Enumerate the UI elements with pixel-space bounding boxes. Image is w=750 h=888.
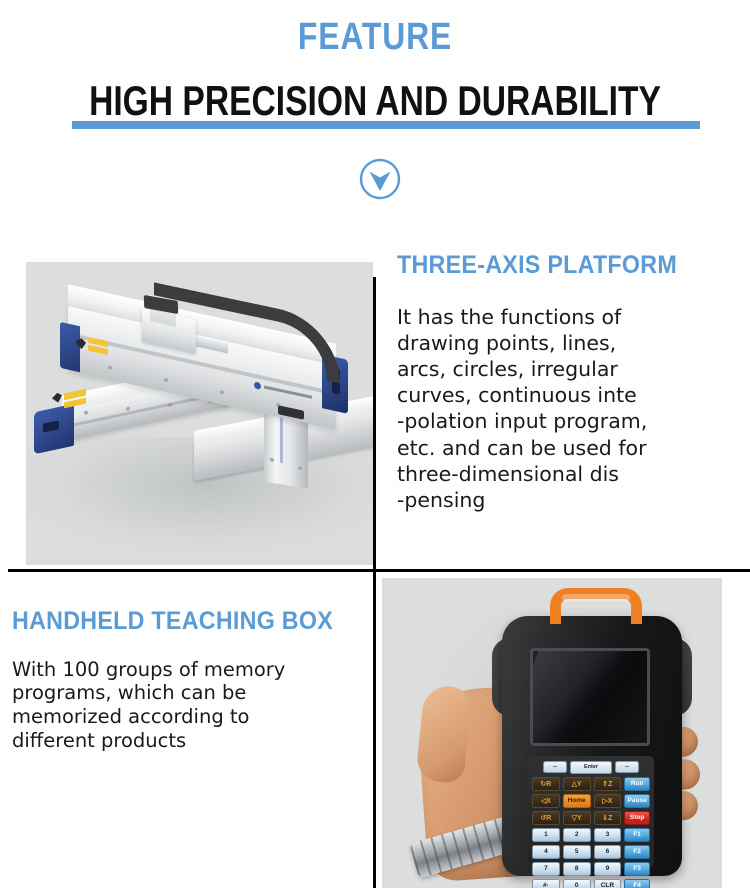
- pendant-screen-glare: [530, 648, 628, 746]
- key-minus-right[interactable]: –: [615, 761, 639, 773]
- chevron-down-circle-icon: [358, 157, 402, 201]
- key-home[interactable]: Home: [563, 794, 591, 808]
- key-f2[interactable]: F2: [624, 845, 650, 859]
- key-z-down[interactable]: ⇓Z: [594, 811, 622, 825]
- page-title: HIGH PRECISION AND DURABILITY: [75, 80, 675, 122]
- key-y-down[interactable]: ▽Y: [563, 811, 591, 825]
- key-1[interactable]: 1: [532, 828, 560, 842]
- pendant-handle-gloss: [562, 594, 630, 601]
- keypad-row-7: #· 0 CLR F4: [532, 879, 650, 888]
- keypad-row-3: ↺R ▽Y ⇓Z Stop: [532, 811, 650, 825]
- key-x-left[interactable]: ◁X: [532, 794, 560, 808]
- key-3[interactable]: 3: [594, 828, 622, 842]
- key-x-right[interactable]: ▷X: [594, 794, 622, 808]
- three-axis-platform-section: THREE-AXIS PLATFORM It has the functions…: [397, 252, 737, 513]
- key-8[interactable]: 8: [563, 862, 591, 876]
- gantry-warning-icon-front: [52, 392, 63, 405]
- handheld-teaching-box-section: HANDHELD TEACHING BOX With 100 groups of…: [12, 608, 372, 753]
- keypad-row-6: 7 8 9 F3: [532, 862, 650, 876]
- pendant-lcd-screen: [530, 648, 650, 746]
- key-rotate-cw[interactable]: ↻R: [532, 777, 560, 791]
- keypad-row-top: – Enter –: [532, 761, 650, 774]
- key-4[interactable]: 4: [532, 845, 560, 859]
- section-title-three-axis-platform: THREE-AXIS PLATFORM: [397, 252, 713, 280]
- feature-header: FEATURE HIGH PRECISION AND DURABILITY: [0, 0, 750, 232]
- three-axis-gantry-platform-photo: [26, 262, 373, 565]
- keypad-row-1: ↻R △Y ⇑Z Run: [532, 777, 650, 791]
- section-divider-horizontal: [8, 569, 750, 572]
- handheld-teaching-pendant-photo: – Enter – ↻R △Y ⇑Z Run ◁X Home ▷X Pause …: [382, 578, 722, 888]
- key-2[interactable]: 2: [563, 828, 591, 842]
- key-z-up[interactable]: ⇑Z: [594, 777, 622, 791]
- key-f1[interactable]: F1: [624, 828, 650, 842]
- key-0[interactable]: 0: [563, 879, 591, 888]
- section-body-handheld-teaching-box: With 100 groups of memory programs, whic…: [12, 658, 372, 753]
- gantry-beam-endcap-left: [60, 322, 80, 372]
- key-9[interactable]: 9: [594, 862, 622, 876]
- key-stop[interactable]: Stop: [624, 811, 650, 825]
- key-f4[interactable]: F4: [624, 879, 650, 888]
- key-rotate-ccw[interactable]: ↺R: [532, 811, 560, 825]
- key-f3[interactable]: F3: [624, 862, 650, 876]
- keypad-row-4: 1 2 3 F1: [532, 828, 650, 842]
- key-enter[interactable]: Enter: [570, 761, 612, 774]
- key-pause[interactable]: Pause: [624, 794, 650, 808]
- pendant-keypad: – Enter – ↻R △Y ⇑Z Run ◁X Home ▷X Pause …: [528, 756, 654, 868]
- key-hash[interactable]: #·: [532, 879, 560, 888]
- section-title-handheld-teaching-box: HANDHELD TEACHING BOX: [12, 608, 347, 636]
- keypad-row-2: ◁X Home ▷X Pause: [532, 794, 650, 808]
- key-7[interactable]: 7: [532, 862, 560, 876]
- heading-underline-bar: [72, 121, 700, 129]
- key-minus-left[interactable]: –: [543, 761, 567, 773]
- keypad-row-5: 4 5 6 F2: [532, 845, 650, 859]
- section-divider-vertical-bottom: [373, 572, 376, 888]
- key-clr[interactable]: CLR: [594, 879, 622, 888]
- key-6[interactable]: 6: [594, 845, 622, 859]
- section-body-three-axis-platform: It has the functions of drawing points, …: [397, 304, 737, 514]
- key-y-up[interactable]: △Y: [563, 777, 591, 791]
- eyebrow-title: FEATURE: [60, 18, 690, 56]
- section-divider-vertical-top: [373, 277, 376, 569]
- key-5[interactable]: 5: [563, 845, 591, 859]
- key-run[interactable]: Run: [624, 777, 650, 791]
